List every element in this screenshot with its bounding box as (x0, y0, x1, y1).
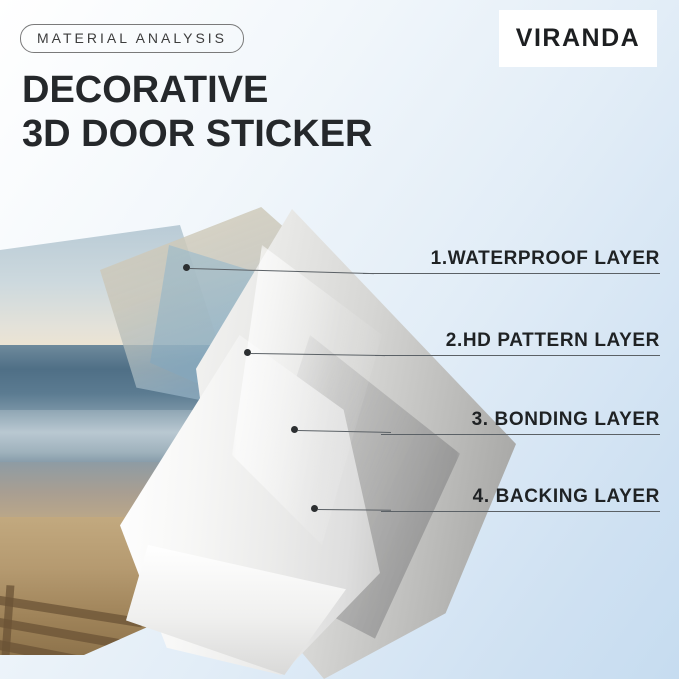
title-line-1: DECORATIVE (22, 68, 372, 112)
callout-waterproof: 1.WATERPROOF LAYER (360, 240, 660, 274)
callout-dot-bonding (291, 426, 298, 433)
callout-label-hd-pattern: 2.HD PATTERN LAYER (446, 330, 660, 352)
callout-rule-hd-pattern (375, 355, 660, 356)
page-title: DECORATIVE 3D DOOR STICKER (22, 68, 372, 156)
brand-logo-box: VIRANDA (499, 10, 657, 67)
eyebrow-badge: MATERIAL ANALYSIS (20, 24, 244, 53)
callout-rule-waterproof (363, 273, 660, 274)
callout-dot-hd-pattern (244, 349, 251, 356)
callout-dot-backing (311, 505, 318, 512)
brand-name: VIRANDA (516, 24, 640, 53)
callout-label-bonding: 3. BONDING LAYER (472, 409, 660, 431)
callout-bonding: 3. BONDING LAYER (378, 401, 660, 435)
title-line-2: 3D DOOR STICKER (22, 112, 372, 156)
callout-hd-pattern: 2.HD PATTERN LAYER (372, 322, 660, 356)
callout-rule-backing (381, 511, 660, 512)
callout-label-backing: 4. BACKING LAYER (473, 486, 660, 508)
poster-canvas: MATERIAL ANALYSIS DECORATIVE 3D DOOR STI… (0, 0, 679, 679)
callout-dot-waterproof (183, 264, 190, 271)
callout-rule-bonding (381, 434, 660, 435)
callout-backing: 4. BACKING LAYER (378, 478, 660, 512)
callout-label-waterproof: 1.WATERPROOF LAYER (431, 248, 660, 270)
